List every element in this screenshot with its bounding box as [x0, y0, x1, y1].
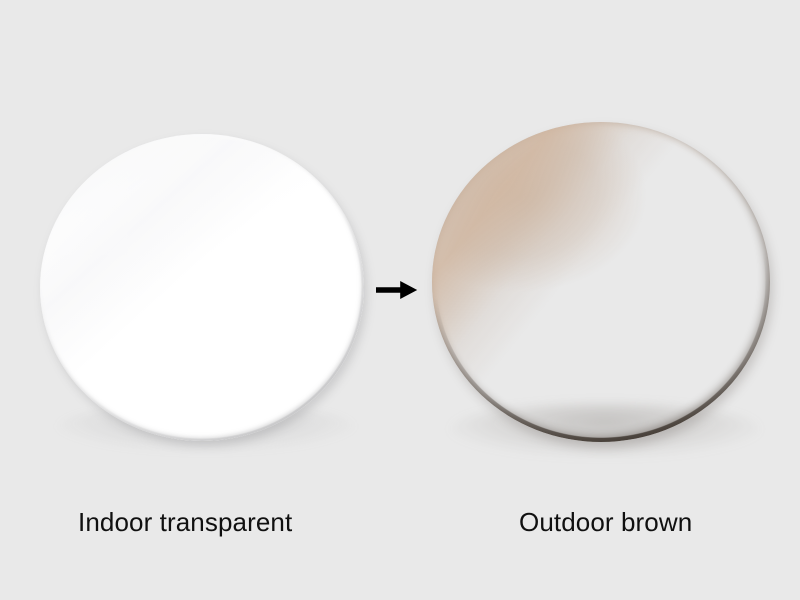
clear-lens-disc [40, 134, 364, 441]
brown-lens-disc [432, 122, 770, 442]
arrow-right-icon [374, 272, 420, 308]
brown-lens-caption: Outdoor brown [519, 506, 692, 538]
lens-comparison-figure: Indoor transparent Outdoor brown [0, 0, 800, 600]
clear-lens-caption: Indoor transparent [78, 506, 292, 538]
